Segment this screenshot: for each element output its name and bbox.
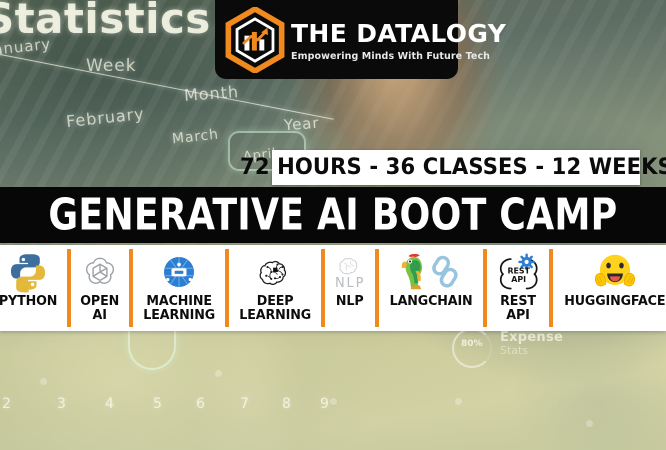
- python-icon: [7, 250, 49, 294]
- brand-text-block: THE DATALOGY Empowering Minds With Futur…: [291, 17, 506, 62]
- tech-item-nlp[interactable]: NLP NLP: [328, 245, 372, 331]
- poster-canvas: Statistics Week Month Year January Febru…: [0, 0, 666, 450]
- tech-separator: [225, 249, 229, 327]
- tech-label-deep-learning: DEEP LEARNING: [239, 295, 311, 323]
- tech-separator: [375, 249, 379, 327]
- tech-item-open-ai[interactable]: OPEN AI: [74, 245, 125, 331]
- svg-text:API: API: [512, 275, 527, 284]
- nlp-wordmark: NLP: [335, 276, 365, 291]
- machine-learning-icon: [159, 250, 199, 294]
- brand-name: THE DATALOGY: [291, 21, 506, 46]
- background-dot: [330, 398, 337, 405]
- langchain-parrot-link-icon: [395, 250, 467, 294]
- background-dot: [455, 398, 462, 405]
- brand-tagline: Empowering Minds With Future Tech: [291, 51, 506, 62]
- background-dot: [40, 378, 47, 385]
- tech-separator: [549, 249, 553, 327]
- technology-strip: PYTHON OPEN AI: [0, 245, 666, 331]
- tech-item-rest-api[interactable]: REST API REST API: [490, 245, 546, 331]
- tech-separator: [483, 249, 487, 327]
- background-dot: [215, 370, 222, 377]
- tech-label-rest-api: REST API: [500, 295, 536, 323]
- background-axis-number: 3: [57, 396, 66, 412]
- tech-item-machine-learning[interactable]: MACHINE LEARNING: [136, 245, 222, 331]
- openai-icon: [80, 250, 120, 294]
- background-axis-number: 7: [240, 396, 249, 412]
- tech-label-nlp: NLP: [336, 295, 364, 309]
- deep-learning-brain-icon: [254, 250, 296, 294]
- brand-logo-bar: THE DATALOGY Empowering Minds With Futur…: [215, 0, 458, 79]
- background-gauge-value: 80%: [461, 339, 483, 349]
- rest-api-icon: REST API: [495, 250, 541, 294]
- tech-label-machine-learning: MACHINE LEARNING: [143, 295, 215, 323]
- tech-separator: [129, 249, 133, 327]
- tech-item-deep-learning[interactable]: DEEP LEARNING: [232, 245, 318, 331]
- page-title: GENERATIVE AI BOOT CAMP: [49, 193, 618, 237]
- duration-banner: 72 HOURS - 36 CLASSES - 12 WEEKS: [272, 150, 640, 185]
- tech-label-python: PYTHON: [0, 295, 57, 309]
- nlp-brain-icon: NLP: [333, 250, 367, 294]
- background-gauge-sublabel: Stats: [500, 344, 528, 357]
- background-axis-number: 4: [105, 396, 114, 412]
- background-axis-number: 5: [153, 396, 162, 412]
- background-axis-number: 8: [282, 396, 291, 412]
- background-axis-number: 2: [2, 396, 11, 412]
- tech-separator: [321, 249, 325, 327]
- svg-text:REST: REST: [508, 266, 531, 275]
- tech-item-huggingface[interactable]: HUGGINGFACE: [556, 245, 666, 331]
- main-title-banner: GENERATIVE AI BOOT CAMP: [0, 187, 666, 243]
- duration-banner-text: 72 HOURS - 36 CLASSES - 12 WEEKS: [240, 155, 666, 180]
- background-gauge-label: Expense: [500, 330, 563, 345]
- background-axis-number: 6: [196, 396, 205, 412]
- tech-label-open-ai: OPEN AI: [80, 295, 119, 323]
- tech-separator: [67, 249, 71, 327]
- background-axis-number: 9: [320, 396, 329, 412]
- tech-item-python[interactable]: PYTHON: [0, 245, 64, 331]
- hexagon-bar-chart-logo-icon: [224, 7, 286, 73]
- tech-label-huggingface: HUGGINGFACE: [565, 295, 666, 309]
- tech-item-langchain[interactable]: LANGCHAIN: [382, 245, 480, 331]
- huggingface-icon: [592, 250, 638, 294]
- tech-label-langchain: LANGCHAIN: [390, 295, 473, 309]
- background-dot: [586, 420, 593, 427]
